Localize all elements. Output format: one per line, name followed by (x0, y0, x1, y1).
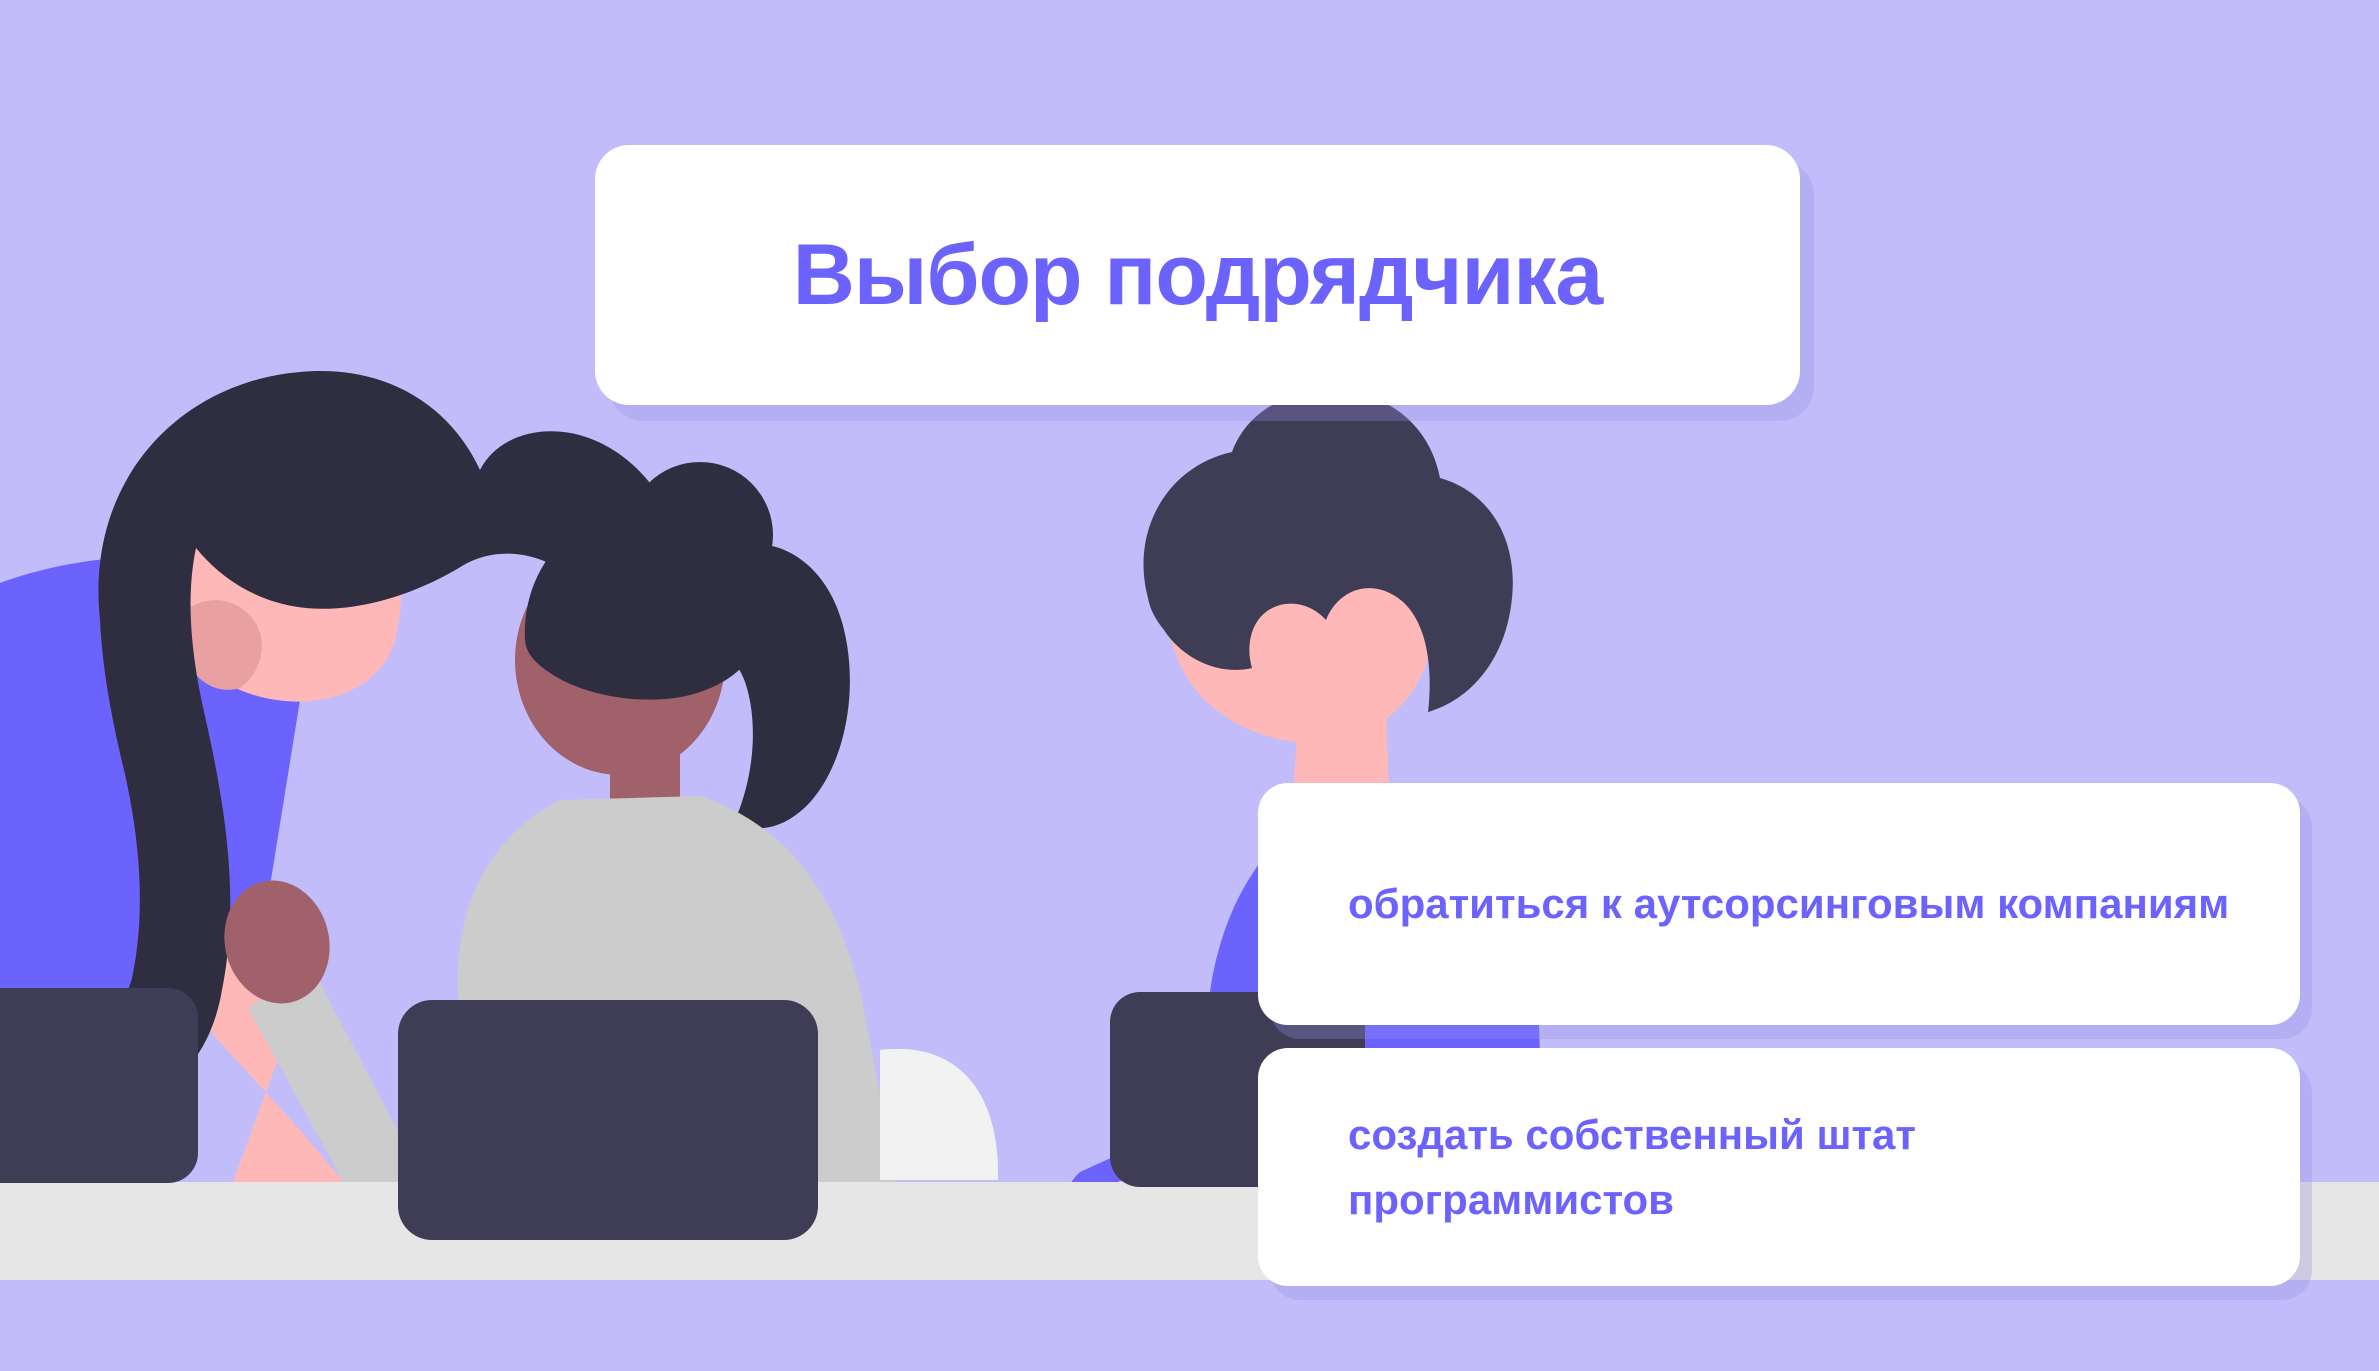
slide-canvas: Выбор подрядчика обратиться к аутсорсинг… (0, 0, 2379, 1371)
laptop-center (398, 1000, 818, 1240)
option-card-in-house[interactable]: создать собственный штат программистов (1258, 1048, 2300, 1286)
option-label-2: создать собственный штат программистов (1258, 1102, 2300, 1232)
option-card-outsourcing[interactable]: обратиться к аутсорсинговым компаниям (1258, 783, 2300, 1025)
option-label-1: обратиться к аутсорсинговым компаниям (1258, 871, 2293, 936)
page-title: Выбор подрядчика (793, 226, 1602, 325)
center-woman-neck (610, 730, 680, 800)
laptop-left (0, 988, 198, 1183)
title-card: Выбор подрядчика (595, 145, 1800, 405)
